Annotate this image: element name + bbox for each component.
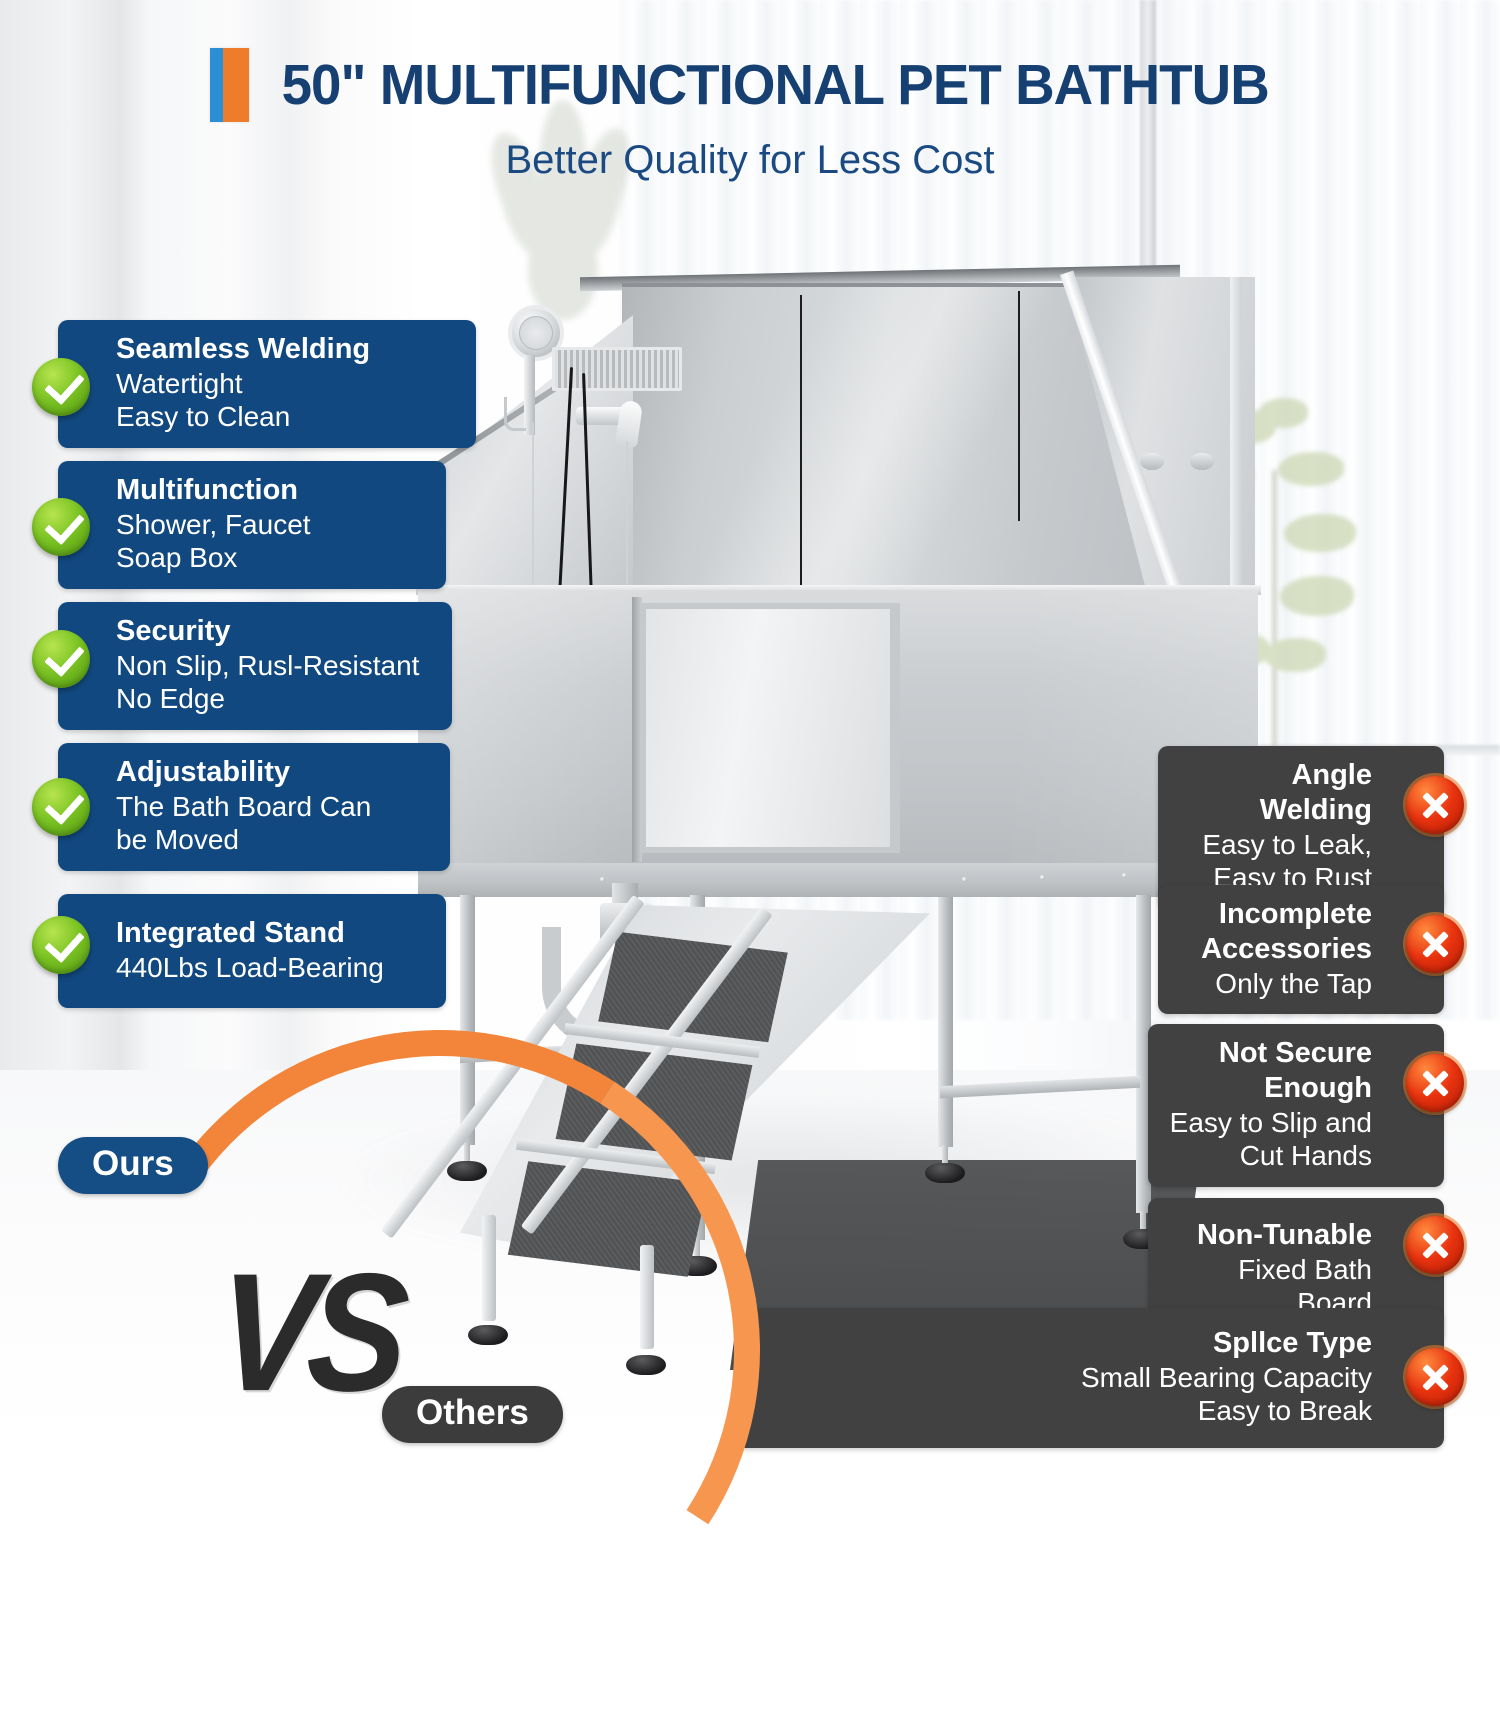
vs-label: VS xyxy=(212,1236,404,1430)
feature-title: Not Secure xyxy=(1168,1036,1372,1071)
feature-title: Security xyxy=(116,614,434,649)
cross-icon xyxy=(1406,1216,1464,1274)
feature-line: Small Bearing Capacity xyxy=(756,1361,1372,1395)
feature-title: Adjustability xyxy=(116,755,432,790)
cross-icon xyxy=(1406,776,1464,834)
feature-line: Easy to Leak, xyxy=(1178,828,1372,862)
wall-hook xyxy=(504,397,526,431)
header: 50" MULTIFUNCTIONAL PET BATHTUB Better Q… xyxy=(0,0,1500,183)
rivet xyxy=(1040,875,1045,880)
hook-knob xyxy=(1140,453,1164,470)
check-icon xyxy=(32,778,90,836)
stand-cross-bar xyxy=(940,1076,1140,1098)
check-icon xyxy=(32,498,90,556)
feature-title: Accessories xyxy=(1178,932,1372,967)
feature-line: No Edge xyxy=(116,682,434,716)
feature-title: Integrated Stand xyxy=(116,916,428,951)
rivet xyxy=(600,877,605,882)
ours-feature-panel: Seamless Welding Watertight Easy to Clea… xyxy=(58,320,476,448)
others-feature-panel: Spllce Type Small Bearing Capacity Easy … xyxy=(736,1308,1444,1448)
feature-line: Soap Box xyxy=(116,541,428,575)
accent-blue-bar xyxy=(210,48,223,122)
ours-feature-panel: Security Non Slip, Rusl-Resistant No Edg… xyxy=(58,602,452,730)
feature-line: Watertight xyxy=(116,367,458,401)
ours-feature-panel: Multifunction Shower, Faucet Soap Box xyxy=(58,461,446,589)
ours-feature-panel: Integrated Stand 440Lbs Load-Bearing xyxy=(58,894,446,1008)
feature-title: Seamless Welding xyxy=(116,332,458,367)
right-wing-frame xyxy=(1230,277,1242,607)
check-icon xyxy=(32,630,90,688)
hanging-cable xyxy=(1018,291,1020,521)
ours-feature-panel: Adjustability The Bath Board Can be Move… xyxy=(58,743,450,871)
check-icon xyxy=(32,358,90,416)
others-badge: Others xyxy=(382,1386,563,1443)
feature-line: 440Lbs Load-Bearing xyxy=(116,951,428,985)
feature-title: Multifunction xyxy=(116,473,428,508)
feature-line: Easy to Break xyxy=(756,1394,1372,1428)
feature-line: Cut Hands xyxy=(1168,1139,1372,1173)
others-feature-panel: Not Secure Enough Easy to Slip and Cut H… xyxy=(1148,1024,1444,1187)
rivet xyxy=(962,877,967,882)
check-icon xyxy=(32,916,90,974)
feature-line: Only the Tap xyxy=(1178,967,1372,1001)
feature-line: be Moved xyxy=(116,823,432,857)
cross-icon xyxy=(1406,915,1464,973)
stand-top-skirt xyxy=(418,863,1258,897)
feature-title: Angle Welding xyxy=(1178,758,1372,828)
feature-line: Easy to Clean xyxy=(116,400,458,434)
rivet xyxy=(1122,873,1127,878)
versus-graphic: VS xyxy=(0,1060,700,1444)
feature-title: Incomplete xyxy=(1178,897,1372,932)
page-subtitle: Better Quality for Less Cost xyxy=(0,138,1500,183)
page-title: 50" MULTIFUNCTIONAL PET BATHTUB xyxy=(282,52,1269,118)
feature-line: Non Slip, Rusl-Resistant xyxy=(116,649,434,683)
water-line xyxy=(626,441,628,597)
cross-icon xyxy=(1406,1348,1464,1406)
feature-title: Enough xyxy=(1168,1071,1372,1106)
water-line xyxy=(532,423,534,599)
accent-orange-bar xyxy=(223,48,249,122)
hook-knob xyxy=(1190,453,1214,470)
ours-badge: Ours xyxy=(58,1137,208,1194)
feature-title: Non-Tunable xyxy=(1168,1218,1372,1253)
feature-title: Spllce Type xyxy=(756,1326,1372,1361)
title-accent-bar xyxy=(210,48,249,122)
hanging-cable xyxy=(800,295,802,595)
stand-leg xyxy=(938,897,953,1147)
feature-line: Easy to Slip and xyxy=(1168,1106,1372,1140)
feature-line: The Bath Board Can xyxy=(116,790,432,824)
adjustable-foot xyxy=(925,1163,965,1183)
feature-line: Shower, Faucet xyxy=(116,508,428,542)
others-feature-panel: Incomplete Accessories Only the Tap xyxy=(1158,885,1444,1014)
cross-icon xyxy=(1406,1054,1464,1112)
movable-bath-board xyxy=(640,603,900,853)
